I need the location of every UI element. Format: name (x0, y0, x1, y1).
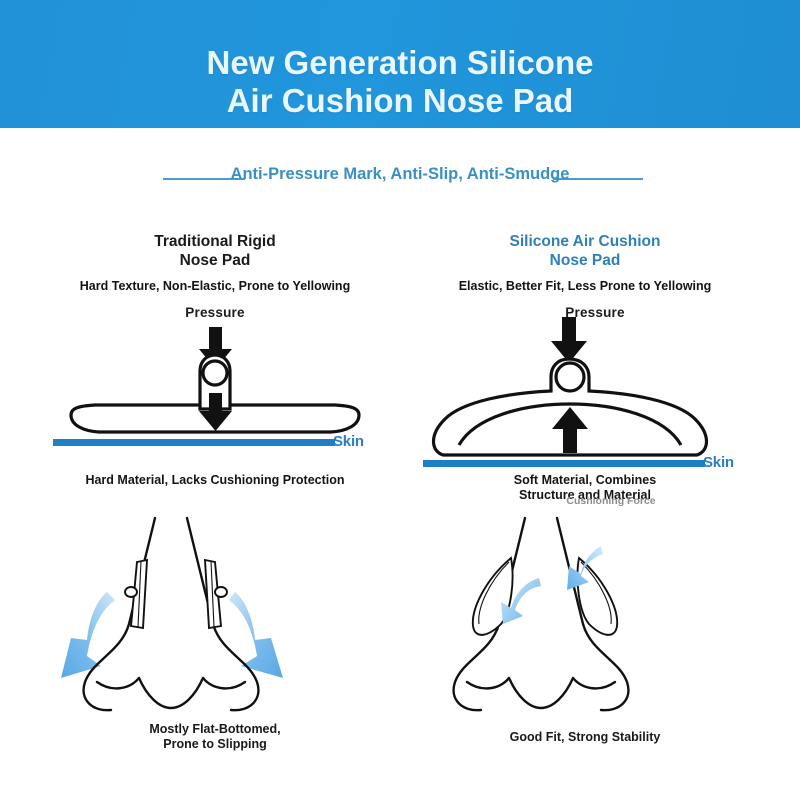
pad-clip-left (125, 587, 137, 597)
skin-line-right (423, 460, 705, 467)
bottom-caption-cushion: Good Fit, Strong Stability (405, 730, 765, 745)
traditional-pad-title: Traditional Rigid Nose Pad (35, 232, 395, 270)
skin-label-left: Skin (333, 433, 364, 450)
subtitle-text: Anti-Pressure Mark, Anti-Slip, Anti-Smud… (0, 163, 800, 185)
down-arrow-icon (551, 317, 587, 363)
slip-arrow-icon (229, 592, 283, 678)
skin-label-right: Skin (703, 454, 734, 471)
page-title: New Generation Silicone Air Cushion Nose… (0, 44, 800, 120)
pad-clip-right (215, 587, 227, 597)
nose-cushion-svg (405, 500, 765, 725)
column-heading-traditional: Traditional Rigid Nose Pad Hard Texture,… (35, 232, 395, 294)
silicone-pad-title: Silicone Air Cushion Nose Pad (405, 232, 765, 270)
nose-rigid-svg (35, 500, 395, 725)
silicone-pad-subtitle: Elastic, Better Fit, Less Prone to Yello… (405, 278, 765, 294)
skin-line-left (53, 439, 335, 446)
caption-rigid-pad: Hard Material, Lacks Cushioning Protecti… (35, 473, 395, 488)
slip-arrow-icon (61, 592, 115, 678)
column-heading-silicone: Silicone Air Cushion Nose Pad Elastic, B… (405, 232, 765, 294)
traditional-pad-subtitle: Hard Texture, Non-Elastic, Prone to Yell… (35, 278, 395, 294)
nose-illustration-cushion (405, 500, 765, 725)
subtitle-bar: Anti-Pressure Mark, Anti-Slip, Anti-Smud… (0, 163, 800, 193)
nose-illustration-rigid (35, 500, 395, 725)
bottom-caption-rigid: Mostly Flat-Bottomed, Prone to Slipping (35, 722, 395, 752)
header-banner: New Generation Silicone Air Cushion Nose… (0, 0, 800, 128)
